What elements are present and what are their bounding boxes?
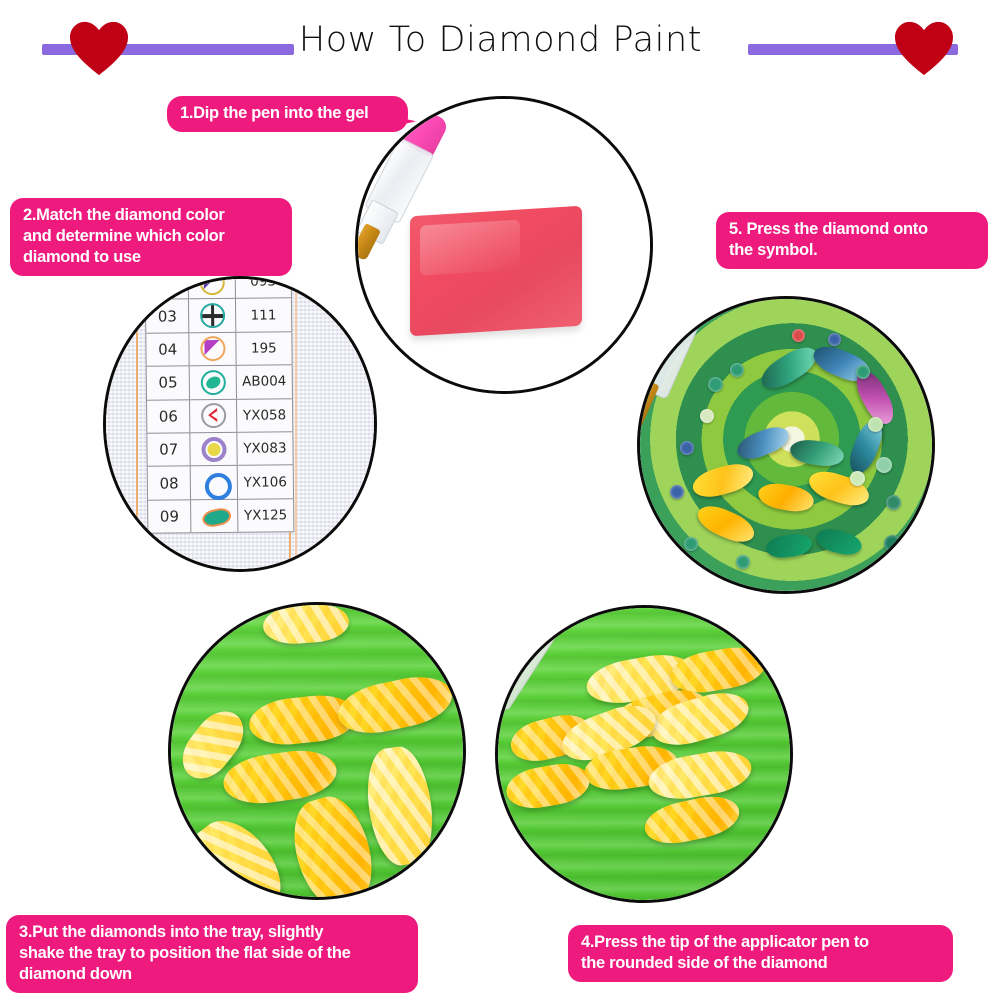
chart-row: 07YX083 <box>147 432 293 467</box>
diamond-gem <box>361 743 439 868</box>
step-1-label-line: 1.Dip the pen into the gel <box>180 103 395 124</box>
chart-row-number: 04 <box>146 333 190 366</box>
canvas-gem-round <box>868 417 883 432</box>
canvas-gem <box>814 526 864 558</box>
canvas-gem-round <box>684 537 698 551</box>
chart-row-number: 03 <box>146 300 190 333</box>
canvas-gem-round <box>736 555 750 569</box>
canvas-gem-round <box>828 333 841 346</box>
applicator-pen <box>640 299 714 458</box>
chart-symbol-triangle-corner-icon <box>200 336 225 361</box>
step-2-label-line: 2.Match the diamond color <box>23 205 279 226</box>
chart-symbol-arrow-left-icon <box>201 403 226 428</box>
chart-row-symbol <box>189 299 236 332</box>
chart-row-number: 05 <box>147 366 191 399</box>
step-3-label-line: 3.Put the diamonds into the tray, slight… <box>19 922 405 943</box>
infographic-canvas: How To Diamond Paint 1.Dip the pen into … <box>0 0 1001 1001</box>
gel-wax-square <box>410 206 582 337</box>
canvas-gem-round <box>708 377 723 392</box>
chart-row-symbol <box>190 366 237 399</box>
canvas-gem-round <box>700 409 714 423</box>
chart-row-code: 093 <box>235 279 292 298</box>
diamond-gem <box>503 759 593 813</box>
chart-row: 04195 <box>146 332 292 367</box>
canvas-gem-round <box>850 471 865 486</box>
pen-body <box>498 611 559 712</box>
canvas-gem <box>789 437 846 468</box>
color-chart-table: 02093031110419505AB00406YX05807YX08308YX… <box>145 279 295 534</box>
chart-symbol-leaf-icon <box>202 503 227 528</box>
chart-row: 09YX125 <box>148 499 294 534</box>
step-2-label: 2.Match the diamond color and determine … <box>10 198 292 276</box>
chart-row-number: 06 <box>147 400 191 433</box>
chart-row-code: YX125 <box>238 499 295 532</box>
chart-row-code: YX058 <box>237 399 294 432</box>
step-5-label: 5. Press the diamond onto the symbol. <box>716 212 988 269</box>
chart-row-number: 02 <box>146 279 190 299</box>
canvas-gem-round <box>670 485 684 499</box>
chart-row-number: 09 <box>148 500 192 533</box>
chart-symbol-donut-icon <box>201 470 226 495</box>
diamond-gem <box>262 605 350 646</box>
step-5-label-line: 5. Press the diamond onto <box>729 219 975 240</box>
header: How To Diamond Paint <box>0 0 1001 86</box>
chart-row-code: 111 <box>236 299 293 332</box>
canvas-gem-round <box>884 535 901 552</box>
diamond-gem <box>641 790 743 849</box>
chart-row-symbol <box>190 333 237 366</box>
diamond-gem <box>171 806 296 897</box>
canvas-guide-line <box>295 279 297 569</box>
chart-row: 03111 <box>146 299 292 334</box>
step-3-label-line: shake the tray to position the flat side… <box>19 943 405 964</box>
chart-row-code: 195 <box>236 332 293 365</box>
chart-symbol-blob-icon <box>200 370 225 395</box>
chart-row-number: 08 <box>148 467 192 500</box>
step-4-label-line: the rounded side of the diamond <box>581 953 940 974</box>
step-3-photo-circle <box>168 602 466 900</box>
pen-metal-tip <box>640 378 659 435</box>
step-4-label: 4.Press the tip of the applicator pen to… <box>568 925 953 982</box>
step-1-photo-circle <box>355 96 653 394</box>
chart-row-symbol <box>190 399 237 432</box>
chart-row: 05AB004 <box>147 365 293 400</box>
step-2-label-line: diamond to use <box>23 247 279 268</box>
canvas-gem <box>765 532 814 560</box>
chart-row-code: YX083 <box>237 432 294 465</box>
step-5-label-line: the symbol. <box>729 240 975 261</box>
chart-row: 08YX106 <box>148 466 294 501</box>
chart-row-code: AB004 <box>236 365 293 398</box>
canvas-gem <box>756 480 815 514</box>
chart-symbol-dot-icon <box>201 437 226 462</box>
canvas-guide-line <box>136 279 138 569</box>
step-4-label-line: 4.Press the tip of the applicator pen to <box>581 932 940 953</box>
chart-symbol-triangle-corner-icon <box>199 279 224 295</box>
chart-row-symbol <box>191 433 238 466</box>
chart-row: 02093 <box>146 279 292 300</box>
canvas-gem <box>756 341 822 396</box>
canvas-gem-round <box>876 457 892 473</box>
step-3-label: 3.Put the diamonds into the tray, slight… <box>6 915 418 993</box>
chart-row-symbol <box>191 500 238 533</box>
canvas-gem-round <box>730 363 744 377</box>
step-2-label-line: and determine which color <box>23 226 279 247</box>
canvas-gem <box>693 500 758 548</box>
canvas-gem-round <box>856 365 870 379</box>
canvas-gem-round <box>680 441 694 455</box>
chart-row-code: YX106 <box>237 466 294 499</box>
page-title: How To Diamond Paint <box>0 20 1001 60</box>
canvas-gem-round <box>886 495 901 510</box>
chart-row-number: 07 <box>147 433 191 466</box>
chart-row: 06YX058 <box>147 399 293 434</box>
chart-row-symbol <box>191 466 238 499</box>
canvas-gem <box>689 459 756 502</box>
chart-row-symbol <box>189 279 236 299</box>
step-1-label: 1.Dip the pen into the gel <box>167 96 408 132</box>
step-3-label-line: diamond down <box>19 964 405 985</box>
diamond-gem <box>333 669 456 740</box>
step-2-photo-circle: 02093031110419505AB00406YX05807YX08308YX… <box>103 276 377 572</box>
canvas-gem-round <box>792 329 805 342</box>
step-4-photo-circle <box>495 605 793 903</box>
step-5-photo-circle <box>637 296 935 594</box>
canvas-gem <box>733 422 792 464</box>
chart-symbol-plus-icon <box>200 303 225 328</box>
